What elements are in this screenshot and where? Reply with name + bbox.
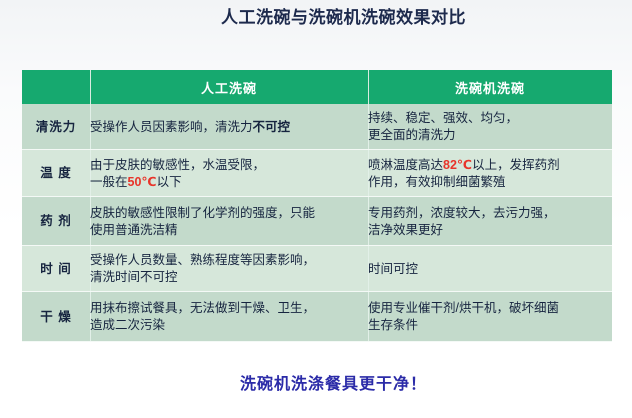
manual-text-1-l2-red: 50℃ <box>128 175 157 189</box>
cell-manual-time: 受操作人员数量、熟练程度等因素影响， 清洗时间不可控 <box>90 246 368 292</box>
machine-text-0-l2: 更全面的清洗力 <box>368 127 612 144</box>
machine-text-1-l1-red: 82℃ <box>443 158 472 172</box>
cell-machine-time: 时间可控 <box>368 246 612 292</box>
manual-text-3-l1: 受操作人员数量、熟练程度等因素影响， <box>90 252 368 269</box>
table-row: 药 剂 皮肤的敏感性限制了化学剂的强度，只能 使用普通洗洁精 专用药剂，浓度较大… <box>22 197 612 246</box>
cell-machine-drying: 使用专业催干剂/烘干机，破坏细菌 生存条件 <box>368 292 612 342</box>
table-row: 时 间 受操作人员数量、熟练程度等因素影响， 清洗时间不可控 时间可控 <box>22 246 612 292</box>
manual-emphasis-0: 不可控 <box>253 120 291 134</box>
manual-text-3-l2: 清洗时间不可控 <box>90 269 368 286</box>
machine-text-2-l1: 专用药剂，浓度较大，去污力强， <box>368 205 612 222</box>
manual-text-2-l2: 使用普通洗洁精 <box>90 222 368 239</box>
table-row: 清洗力 受操作人员因素影响，清洗力不可控 持续、稳定、强效、均匀， 更全面的清洗… <box>22 104 612 150</box>
table-row: 干 燥 用抹布擦试餐具，无法做到干燥、卫生， 造成二次污染 使用专业催干剂/烘干… <box>22 292 612 342</box>
manual-text-2-l1: 皮肤的敏感性限制了化学剂的强度，只能 <box>90 205 368 222</box>
machine-text-3-l1: 时间可控 <box>368 261 612 278</box>
machine-text-1-l2: 作用，有效抑制细菌繁殖 <box>368 174 612 191</box>
header-cell-manual: 人工洗碗 <box>90 70 368 104</box>
slide-page: 人工洗碗与洗碗机洗碗效果对比 人工洗碗 洗碗机洗碗 清洗力 受操作人员因素影响，… <box>0 0 632 418</box>
manual-text-1-l2-post: 以下 <box>157 175 182 189</box>
table-header-row: 人工洗碗 洗碗机洗碗 <box>22 70 612 104</box>
row-label-cleaning-power: 清洗力 <box>22 104 90 150</box>
header-cell-machine: 洗碗机洗碗 <box>368 70 612 104</box>
machine-text-4-l1: 使用专业催干剂/烘干机，破坏细菌 <box>368 300 612 317</box>
row-label-drying: 干 燥 <box>22 292 90 342</box>
page-title: 人工洗碗与洗碗机洗碗效果对比 <box>0 6 632 30</box>
table-row: 温 度 由于皮肤的敏感性，水温受限， 一般在50℃以下 喷淋温度高达82℃以上，… <box>22 150 612 197</box>
row-label-time: 时 间 <box>22 246 90 292</box>
cell-machine-temperature: 喷淋温度高达82℃以上，发挥药剂 作用，有效抑制细菌繁殖 <box>368 150 612 197</box>
cell-manual-temperature: 由于皮肤的敏感性，水温受限， 一般在50℃以下 <box>90 150 368 197</box>
cell-manual-cleaning-power: 受操作人员因素影响，清洗力不可控 <box>90 104 368 150</box>
cell-machine-cleaning-power: 持续、稳定、强效、均匀， 更全面的清洗力 <box>368 104 612 150</box>
machine-text-1-l1-post: 以上，发挥药剂 <box>472 158 560 172</box>
footer-conclusion: 洗碗机洗涤餐具更干净！ <box>0 370 632 394</box>
machine-text-1-l1-pre: 喷淋温度高达 <box>368 158 443 172</box>
manual-text-4-l2: 造成二次污染 <box>90 317 368 334</box>
manual-text-1-l1: 由于皮肤的敏感性，水温受限， <box>90 157 368 174</box>
row-label-temperature: 温 度 <box>22 150 90 197</box>
machine-text-0-l1: 持续、稳定、强效、均匀， <box>368 110 612 127</box>
row-label-detergent: 药 剂 <box>22 197 90 246</box>
manual-text-0: 受操作人员因素影响，清洗力 <box>90 120 253 134</box>
cell-manual-detergent: 皮肤的敏感性限制了化学剂的强度，只能 使用普通洗洁精 <box>90 197 368 246</box>
machine-text-2-l2: 洁净效果更好 <box>368 222 612 239</box>
header-cell-blank <box>22 70 90 104</box>
machine-text-4-l2: 生存条件 <box>368 317 612 334</box>
cell-machine-detergent: 专用药剂，浓度较大，去污力强， 洁净效果更好 <box>368 197 612 246</box>
manual-text-4-l1: 用抹布擦试餐具，无法做到干燥、卫生， <box>90 300 368 317</box>
comparison-table: 人工洗碗 洗碗机洗碗 清洗力 受操作人员因素影响，清洗力不可控 持续、稳定、强效… <box>22 70 612 342</box>
cell-manual-drying: 用抹布擦试餐具，无法做到干燥、卫生， 造成二次污染 <box>90 292 368 342</box>
manual-text-1-l2-pre: 一般在 <box>90 175 128 189</box>
